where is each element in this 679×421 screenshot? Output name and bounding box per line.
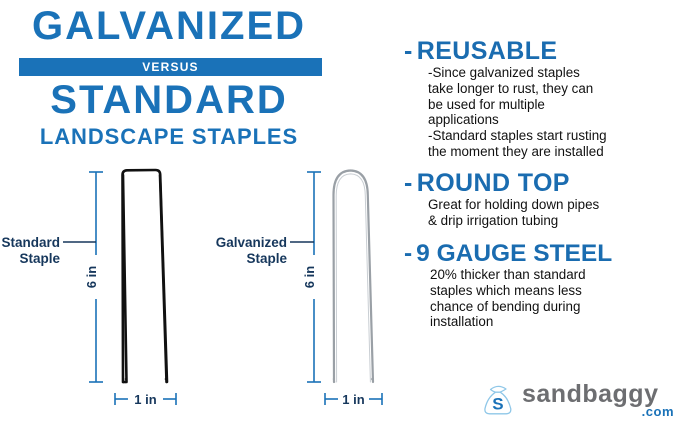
standard-label-line2: Staple <box>19 251 60 266</box>
galvanized-label-line1: Galvanized <box>216 235 287 250</box>
feature-9-gauge-steel: -9 GAUGE STEEL 20% thicker than standard… <box>404 241 676 331</box>
galvanized-label-line2: Staple <box>246 251 287 266</box>
standard-height-dimension: 6 in <box>84 172 105 382</box>
logo-tld: .com <box>642 405 674 418</box>
logo-wordmark: sandbaggy <box>522 382 658 407</box>
galvanized-height-dimension: 6 in <box>302 172 323 382</box>
title-block: GALVANIZED VERSUS STANDARD LANDSCAPE STA… <box>14 4 324 150</box>
title-line-galvanized: GALVANIZED <box>14 6 324 46</box>
galvanized-staple-highlight <box>336 174 370 382</box>
standard-label-line1: Standard <box>1 235 60 250</box>
feature-9-gauge-steel-heading-text: 9 GAUGE STEEL <box>416 240 612 267</box>
versus-label: VERSUS <box>19 58 322 76</box>
sandbaggy-logo[interactable]: S sandbaggy .com <box>478 381 674 419</box>
feature-round-top-heading: -ROUND TOP <box>404 170 676 197</box>
feature-9-gauge-steel-body: 20% thicker than standard staples which … <box>404 267 676 330</box>
feature-reusable-heading-text: REUSABLE <box>417 37 558 65</box>
logo-icon-letter: S <box>492 395 503 414</box>
feature-reusable-heading: -REUSABLE <box>404 38 676 65</box>
standard-width-dimension: 1 in <box>115 392 176 407</box>
feature-reusable: -REUSABLE -Since galvanized staples take… <box>404 38 676 160</box>
title-line-standard: STANDARD <box>14 80 324 120</box>
galvanized-width-label: 1 in <box>342 392 364 407</box>
feature-reusable-body: -Since galvanized staples take longer to… <box>404 65 676 160</box>
galvanized-part-label-group: Galvanized Staple <box>216 235 314 266</box>
feature-round-top-heading-text: ROUND TOP <box>417 169 570 197</box>
galvanized-height-label: 6 in <box>302 266 317 288</box>
staple-diagrams-svg: 6 in Standard Staple 1 in <box>0 155 400 421</box>
standard-width-label: 1 in <box>134 392 156 407</box>
feature-9-gauge-steel-heading: -9 GAUGE STEEL <box>404 241 676 267</box>
title-subtitle: LANDSCAPE STAPLES <box>14 124 324 150</box>
sandbag-icon: S <box>478 381 518 419</box>
galvanized-staple-drawing <box>333 171 374 383</box>
diagram-area: 6 in Standard Staple 1 in <box>0 155 400 421</box>
feature-round-top-body: Great for holding down pipes & drip irri… <box>404 197 676 229</box>
bullet-dash-icon: - <box>404 37 413 65</box>
features-column: -REUSABLE -Since galvanized staples take… <box>404 38 676 337</box>
versus-bar: VERSUS <box>19 58 322 76</box>
galvanized-width-dimension: 1 in <box>325 392 382 407</box>
standard-height-label: 6 in <box>84 266 99 288</box>
standard-staple-drawing <box>123 170 168 383</box>
bullet-dash-icon: - <box>404 169 413 197</box>
standard-part-label-group: Standard Staple <box>1 235 96 266</box>
bullet-dash-icon: - <box>404 240 412 267</box>
infographic-page: GALVANIZED VERSUS STANDARD LANDSCAPE STA… <box>0 0 679 421</box>
feature-round-top: -ROUND TOP Great for holding down pipes … <box>404 170 676 229</box>
